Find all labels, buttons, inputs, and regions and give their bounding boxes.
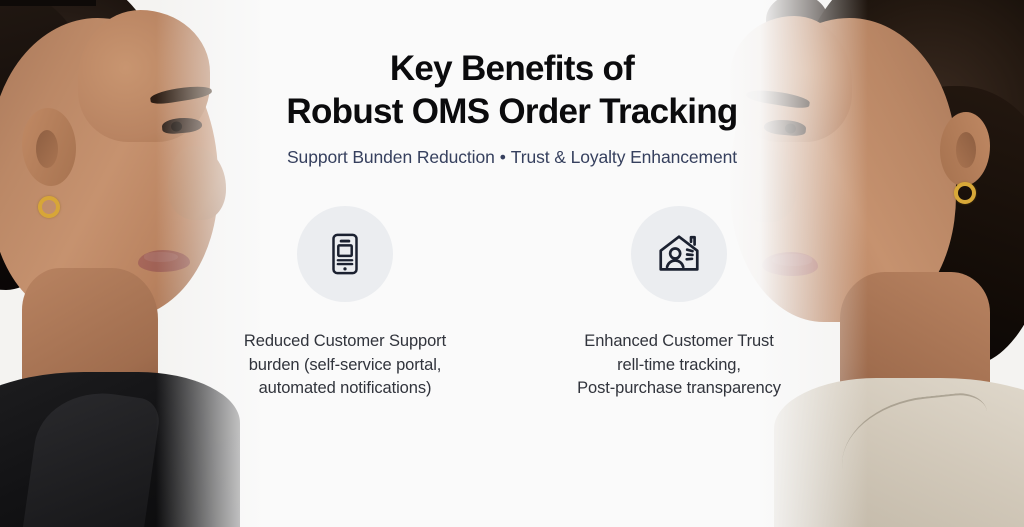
benefits-list: Reduced Customer Support burden (self-se… <box>220 206 804 400</box>
benefit-icon-container-1 <box>297 206 393 302</box>
mobile-phone-icon <box>322 231 368 277</box>
headline-line-2: Robust OMS Order Tracking <box>286 91 737 134</box>
left-subject-lips <box>138 250 190 272</box>
page-title: Key Benefits of Robust OMS Order Trackin… <box>286 48 737 133</box>
benefit-caption-1-line-3: automated notifications) <box>244 377 446 400</box>
subtitle: Support Bunden Reduction•Trust & Loyalty… <box>287 147 737 168</box>
subtitle-separator-icon: • <box>500 147 506 167</box>
benefit-caption-1: Reduced Customer Support burden (self-se… <box>244 330 446 400</box>
subtitle-left-text: Support Bunden Reduction <box>287 147 495 167</box>
right-subject-earring <box>954 182 976 204</box>
key-benefits-banner: Key Benefits of Robust OMS Order Trackin… <box>0 0 1024 527</box>
left-subject-ear <box>22 108 76 186</box>
benefit-card-support-burden: Reduced Customer Support burden (self-se… <box>220 206 470 400</box>
house-person-tracking-icon <box>654 229 704 279</box>
benefit-caption-2: Enhanced Customer Trust rell-time tracki… <box>577 330 781 400</box>
left-subject-earring <box>38 196 60 218</box>
benefit-icon-container-2 <box>631 206 727 302</box>
benefit-caption-1-line-1: Reduced Customer Support <box>244 330 446 353</box>
benefit-caption-1-line-2: burden (self-service portal, <box>244 354 446 377</box>
benefit-caption-2-line-1: Enhanced Customer Trust <box>577 330 781 353</box>
headline-line-1: Key Benefits of <box>286 48 737 91</box>
left-photo-top-edge <box>0 0 96 6</box>
benefit-caption-2-line-3: Post-purchase transparency <box>577 377 781 400</box>
benefit-card-customer-trust: Enhanced Customer Trust rell-time tracki… <box>554 206 804 400</box>
subtitle-right-text: Trust & Loyalty Enhancement <box>511 147 737 167</box>
benefit-caption-2-line-2: rell-time tracking, <box>577 354 781 377</box>
